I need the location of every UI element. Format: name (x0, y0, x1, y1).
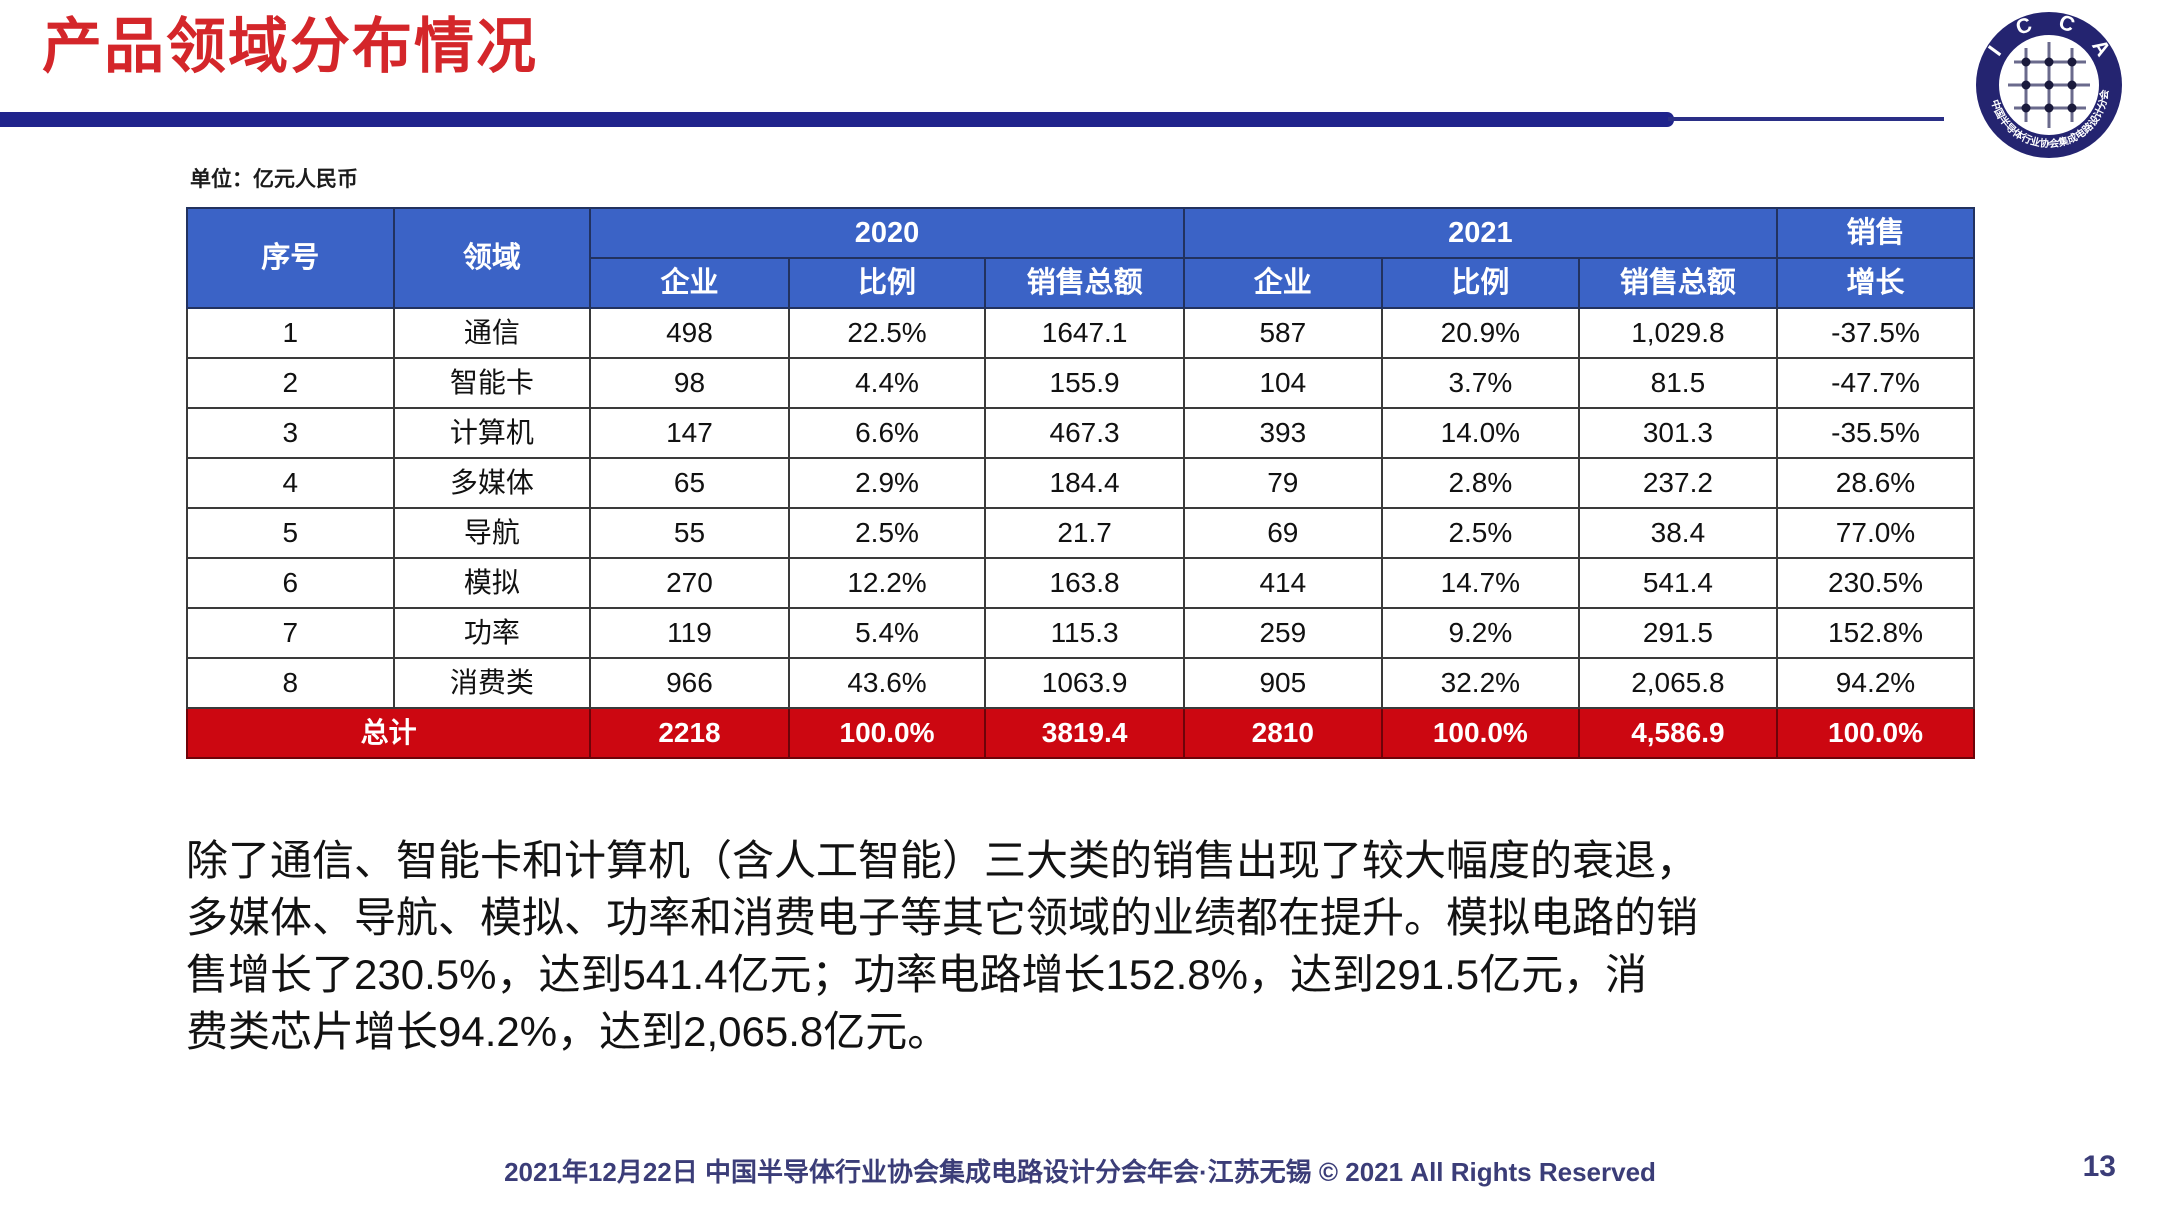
cell-index: 7 (187, 608, 394, 658)
cell-growth: 94.2% (1777, 658, 1974, 708)
cell-field: 模拟 (394, 558, 591, 608)
table-header-row-1: 序号 领域 2020 2021 销售 (187, 208, 1974, 258)
cell-2021-ratio: 32.2% (1382, 658, 1579, 708)
cell-2020-enterprise: 55 (590, 508, 788, 558)
cell-2021-enterprise: 587 (1184, 308, 1382, 358)
data-table: 序号 领域 2020 2021 销售 企业 比例 销售总额 企业 比例 销售总额… (186, 207, 1975, 759)
col-header-year-2021: 2021 (1184, 208, 1777, 258)
cell-2021-sales-total: 2,065.8 (1579, 658, 1777, 708)
cell-2020-ratio: 5.4% (789, 608, 986, 658)
cell-2021-enterprise: 104 (1184, 358, 1382, 408)
cell-2020-ratio: 22.5% (789, 308, 986, 358)
cell-2021-enterprise: 414 (1184, 558, 1382, 608)
cell-2021-ratio: 14.7% (1382, 558, 1579, 608)
cell-2020-ratio: 2.5% (789, 508, 986, 558)
cell-index: 8 (187, 658, 394, 708)
cell-2020-sales-total: 467.3 (985, 408, 1183, 458)
table-row: 8消费类96643.6%1063.990532.2%2,065.894.2% (187, 658, 1974, 708)
iccad-logo-icon: I C C A D 中国半导体行业协会集成电路设计分会 (1974, 10, 2124, 160)
cell-2020-ratio: 4.4% (789, 358, 986, 408)
cell-2020-ratio: 12.2% (789, 558, 986, 608)
cell-2021-enterprise: 79 (1184, 458, 1382, 508)
paragraph-line-4: 费类芯片增长94.2%，达到2,065.8亿元。 (186, 1003, 1976, 1060)
cell-index: 3 (187, 408, 394, 458)
cell-total-2020-ratio: 100.0% (789, 708, 986, 758)
cell-2021-sales-total: 541.4 (1579, 558, 1777, 608)
col-header-2021-ratio: 比例 (1382, 258, 1579, 308)
cell-index: 2 (187, 358, 394, 408)
cell-2020-enterprise: 147 (590, 408, 788, 458)
cell-total-2020-sales-total: 3819.4 (985, 708, 1183, 758)
cell-2020-sales-total: 184.4 (985, 458, 1183, 508)
paragraph-line-1: 除了通信、智能卡和计算机（含人工智能）三大类的销售出现了较大幅度的衰退， (186, 832, 1976, 889)
cell-2020-sales-total: 1647.1 (985, 308, 1183, 358)
cell-field: 通信 (394, 308, 591, 358)
cell-2021-enterprise: 259 (1184, 608, 1382, 658)
cell-total-growth: 100.0% (1777, 708, 1974, 758)
table-row: 5导航552.5%21.7692.5%38.477.0% (187, 508, 1974, 558)
cell-total-2021-enterprise: 2810 (1184, 708, 1382, 758)
page-title: 产品领域分布情况 (42, 14, 538, 80)
cell-total-label: 总计 (187, 708, 590, 758)
cell-2020-sales-total: 1063.9 (985, 658, 1183, 708)
table-row: 4多媒体652.9%184.4792.8%237.228.6% (187, 458, 1974, 508)
cell-field: 智能卡 (394, 358, 591, 408)
cell-field: 多媒体 (394, 458, 591, 508)
cell-total-2021-ratio: 100.0% (1382, 708, 1579, 758)
cell-2021-sales-total: 81.5 (1579, 358, 1777, 408)
col-header-2021-sales-total: 销售总额 (1579, 258, 1777, 308)
cell-2021-ratio: 3.7% (1382, 358, 1579, 408)
col-header-index: 序号 (187, 208, 394, 308)
table-row: 1通信49822.5%1647.158720.9%1,029.8-37.5% (187, 308, 1974, 358)
footer-text: 2021年12月22日 中国半导体行业协会集成电路设计分会年会·江苏无锡 © 2… (0, 1152, 2160, 1189)
cell-2020-enterprise: 65 (590, 458, 788, 508)
cell-2021-sales-total: 1,029.8 (1579, 308, 1777, 358)
col-header-2021-enterprise: 企业 (1184, 258, 1382, 308)
cell-2020-sales-total: 163.8 (985, 558, 1183, 608)
body-paragraph: 除了通信、智能卡和计算机（含人工智能）三大类的销售出现了较大幅度的衰退， 多媒体… (186, 832, 1976, 1060)
cell-2020-enterprise: 98 (590, 358, 788, 408)
paragraph-line-3: 售增长了230.5%，达到541.4亿元；功率电路增长152.8%，达到291.… (186, 946, 1976, 1003)
cell-field: 功率 (394, 608, 591, 658)
cell-growth: -37.5% (1777, 308, 1974, 358)
cell-2021-sales-total: 291.5 (1579, 608, 1777, 658)
title-rule-thick (0, 112, 1674, 127)
cell-growth: -47.7% (1777, 358, 1974, 408)
cell-2021-enterprise: 69 (1184, 508, 1382, 558)
cell-2020-sales-total: 21.7 (985, 508, 1183, 558)
cell-2021-sales-total: 237.2 (1579, 458, 1777, 508)
cell-growth: 77.0% (1777, 508, 1974, 558)
cell-2020-enterprise: 966 (590, 658, 788, 708)
table-row: 3计算机1476.6%467.339314.0%301.3-35.5% (187, 408, 1974, 458)
cell-field: 消费类 (394, 658, 591, 708)
cell-2021-ratio: 2.5% (1382, 508, 1579, 558)
cell-2021-sales-total: 301.3 (1579, 408, 1777, 458)
paragraph-line-2: 多媒体、导航、模拟、功率和消费电子等其它领域的业绩都在提升。模拟电路的销 (186, 889, 1976, 946)
table-body: 1通信49822.5%1647.158720.9%1,029.8-37.5%2智… (187, 308, 1974, 758)
cell-2020-ratio: 2.9% (789, 458, 986, 508)
table-row: 6模拟27012.2%163.841414.7%541.4230.5% (187, 558, 1974, 608)
cell-growth: 230.5% (1777, 558, 1974, 608)
table-row: 7功率1195.4%115.32599.2%291.5152.8% (187, 608, 1974, 658)
title-rule-thin (1668, 117, 1944, 121)
product-field-distribution-table: 序号 领域 2020 2021 销售 企业 比例 销售总额 企业 比例 销售总额… (186, 207, 1975, 759)
col-header-growth-line2: 增长 (1777, 258, 1974, 308)
cell-2021-enterprise: 393 (1184, 408, 1382, 458)
cell-index: 5 (187, 508, 394, 558)
cell-index: 6 (187, 558, 394, 608)
cell-total-2021-sales-total: 4,586.9 (1579, 708, 1777, 758)
cell-2020-enterprise: 270 (590, 558, 788, 608)
cell-2020-enterprise: 498 (590, 308, 788, 358)
table-header: 序号 领域 2020 2021 销售 企业 比例 销售总额 企业 比例 销售总额… (187, 208, 1974, 308)
col-header-2020-sales-total: 销售总额 (985, 258, 1183, 308)
col-header-field: 领域 (394, 208, 591, 308)
cell-index: 1 (187, 308, 394, 358)
cell-2021-enterprise: 905 (1184, 658, 1382, 708)
table-row: 2智能卡984.4%155.91043.7%81.5-47.7% (187, 358, 1974, 408)
iccad-logo: I C C A D 中国半导体行业协会集成电路设计分会 (1974, 10, 2124, 160)
col-header-year-2020: 2020 (590, 208, 1183, 258)
cell-field: 计算机 (394, 408, 591, 458)
cell-index: 4 (187, 458, 394, 508)
cell-2020-ratio: 6.6% (789, 408, 986, 458)
cell-2021-ratio: 9.2% (1382, 608, 1579, 658)
cell-2021-ratio: 20.9% (1382, 308, 1579, 358)
col-header-2020-ratio: 比例 (789, 258, 986, 308)
cell-growth: 28.6% (1777, 458, 1974, 508)
cell-2021-ratio: 14.0% (1382, 408, 1579, 458)
cell-2021-ratio: 2.8% (1382, 458, 1579, 508)
cell-2020-enterprise: 119 (590, 608, 788, 658)
cell-2021-sales-total: 38.4 (1579, 508, 1777, 558)
cell-2020-sales-total: 115.3 (985, 608, 1183, 658)
cell-total-2020-enterprise: 2218 (590, 708, 788, 758)
cell-growth: -35.5% (1777, 408, 1974, 458)
cell-2020-ratio: 43.6% (789, 658, 986, 708)
page-number: 13 (2083, 1150, 2116, 1184)
col-header-growth-line1: 销售 (1777, 208, 1974, 258)
unit-note: 单位：亿元人民币 (190, 163, 358, 193)
col-header-2020-enterprise: 企业 (590, 258, 788, 308)
cell-field: 导航 (394, 508, 591, 558)
table-total-row: 总计2218100.0%3819.42810100.0%4,586.9100.0… (187, 708, 1974, 758)
cell-growth: 152.8% (1777, 608, 1974, 658)
cell-2020-sales-total: 155.9 (985, 358, 1183, 408)
